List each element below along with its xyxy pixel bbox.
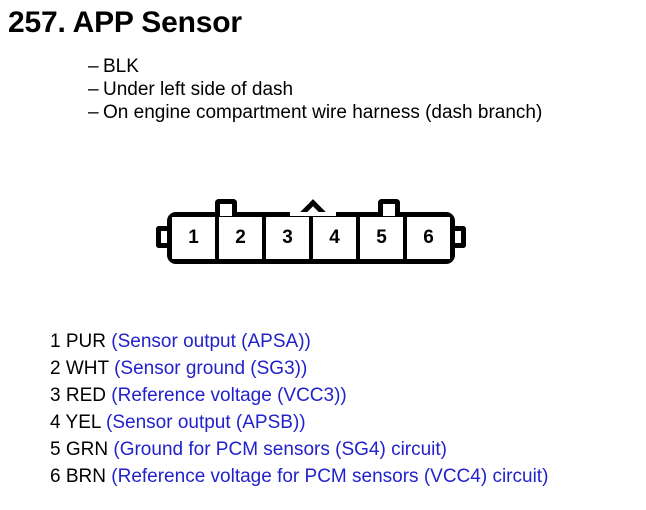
pin-description: (Ground for PCM sensors (SG4) circuit) bbox=[113, 439, 447, 460]
pin-wire-color: BRN bbox=[66, 466, 106, 487]
pin-number: 4 bbox=[50, 412, 61, 433]
connector-cavity: 6 bbox=[407, 217, 450, 259]
note-text: Under left side of dash bbox=[103, 78, 293, 101]
pin-description: (Sensor ground (SG3)) bbox=[114, 358, 307, 379]
pin-description: (Sensor output (APSB)) bbox=[106, 412, 306, 433]
note-item: – On engine compartment wire harness (da… bbox=[88, 101, 542, 124]
notes-list: – BLK – Under left side of dash – On eng… bbox=[88, 55, 542, 124]
note-item: – BLK bbox=[88, 55, 542, 78]
pin-number: 6 bbox=[50, 466, 61, 487]
connector-keying-tab-left-icon bbox=[215, 199, 237, 216]
connector-cavity-row: 1 2 3 4 5 6 bbox=[172, 217, 450, 259]
pin-row: 3 RED (Reference voltage (VCC3)) bbox=[50, 382, 548, 409]
pin-legend: 1 PUR (Sensor output (APSA)) 2 WHT (Sens… bbox=[50, 328, 548, 490]
pin-wire-color: WHT bbox=[66, 358, 109, 379]
pin-description: (Sensor output (APSA)) bbox=[111, 331, 311, 352]
connector-cavity: 2 bbox=[219, 217, 266, 259]
connector-cavity: 1 bbox=[172, 217, 219, 259]
note-text: BLK bbox=[103, 55, 139, 78]
note-text: On engine compartment wire harness (dash… bbox=[103, 101, 542, 124]
pin-description: (Reference voltage for PCM sensors (VCC4… bbox=[111, 466, 548, 487]
pin-number: 3 bbox=[50, 385, 61, 406]
pin-row: 5 GRN (Ground for PCM sensors (SG4) circ… bbox=[50, 436, 548, 463]
dash-icon: – bbox=[88, 101, 103, 124]
dash-icon: – bbox=[88, 55, 103, 78]
connector-cavity: 4 bbox=[313, 217, 360, 259]
pin-row: 1 PUR (Sensor output (APSA)) bbox=[50, 328, 548, 355]
connector-peak-icon bbox=[290, 196, 336, 216]
dash-icon: – bbox=[88, 78, 103, 101]
connector-cavity: 5 bbox=[360, 217, 407, 259]
pin-wire-color: RED bbox=[66, 385, 106, 406]
connector-keying-tab-right-icon bbox=[378, 199, 400, 216]
pin-number: 2 bbox=[50, 358, 61, 379]
pin-row: 4 YEL (Sensor output (APSB)) bbox=[50, 409, 548, 436]
pin-number: 5 bbox=[50, 439, 61, 460]
pin-row: 6 BRN (Reference voltage for PCM sensors… bbox=[50, 463, 548, 490]
pin-description: (Reference voltage (VCC3)) bbox=[111, 385, 346, 406]
page-title: 257. APP Sensor bbox=[8, 6, 242, 40]
pin-wire-color: YEL bbox=[66, 412, 101, 433]
connector-diagram: 1 2 3 4 5 6 bbox=[150, 193, 475, 275]
pin-wire-color: PUR bbox=[66, 331, 106, 352]
pin-number: 1 bbox=[50, 331, 61, 352]
connector-cavity: 3 bbox=[266, 217, 313, 259]
pin-wire-color: GRN bbox=[66, 439, 108, 460]
pin-row: 2 WHT (Sensor ground (SG3)) bbox=[50, 355, 548, 382]
note-item: – Under left side of dash bbox=[88, 78, 542, 101]
